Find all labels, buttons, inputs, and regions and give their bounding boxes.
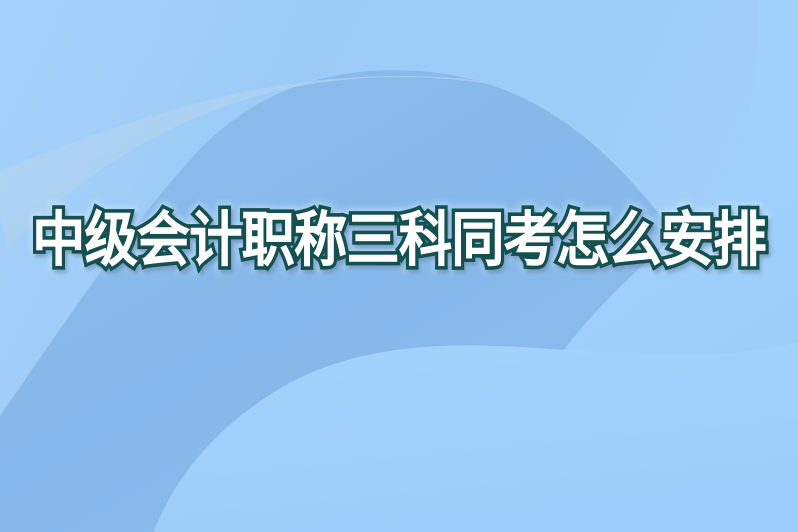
headline-container: 中级会计职称三科同考怎么安排 中级会计职称三科同考怎么安排 中级会计职称三科同考…: [0, 198, 798, 282]
banner-image: 中级会计职称三科同考怎么安排 中级会计职称三科同考怎么安排 中级会计职称三科同考…: [0, 0, 798, 532]
headline-text: 中级会计职称三科同考怎么安排: [32, 206, 766, 274]
banner-headline: 中级会计职称三科同考怎么安排 中级会计职称三科同考怎么安排 中级会计职称三科同考…: [32, 210, 766, 269]
